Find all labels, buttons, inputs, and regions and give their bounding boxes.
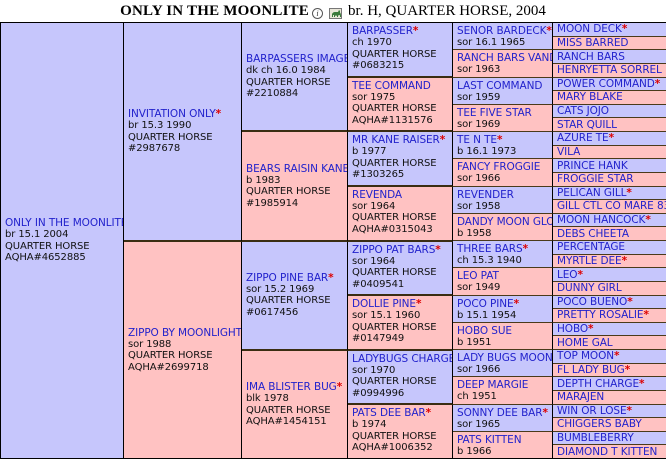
info-icon[interactable]: i: [312, 8, 323, 19]
horse-line3: AQHA#0315043: [352, 224, 449, 236]
pedigree-cell: DUNNY GIRL: [553, 282, 666, 296]
pedigree-cell: GILL CTL CO MARE 83: [553, 200, 666, 214]
superior-star-icon: *: [413, 25, 418, 37]
pedigree-cell: DEEP MARGIEch 1951: [453, 377, 553, 404]
horse-name-link[interactable]: MOON HANCOCK*: [557, 214, 663, 226]
horse-name-link[interactable]: BARPASSER*: [352, 25, 449, 37]
horse-name-link[interactable]: MARAJEN: [557, 391, 663, 403]
horse-line1: ch 15.3 1940: [457, 255, 549, 267]
horse-name-link[interactable]: HOME GAL: [557, 337, 663, 349]
horse-name-link[interactable]: LADYBUGS CHARGE*: [352, 353, 449, 365]
pedigree-cell: TE N TE*b 16.1 1973: [453, 132, 553, 159]
pedigree-cell: DOLLIE PINE*sor 15.1 1960QUARTER HORSE#0…: [348, 296, 453, 351]
superior-star-icon: *: [337, 381, 342, 393]
horse-line3: #0617456: [246, 307, 344, 319]
superior-star-icon: *: [416, 298, 421, 310]
horse-line1: sor 1966: [457, 364, 549, 376]
pedigree-cell: THREE BARS*ch 15.3 1940: [453, 241, 553, 268]
pedigree-cell: CATS JOJO: [553, 105, 666, 119]
horse-name-link[interactable]: TE N TE*: [457, 134, 549, 146]
pedigree-cell: LAST COMMANDsor 1959: [453, 78, 553, 105]
horse-name-link[interactable]: FROGGIE STAR: [557, 173, 663, 185]
horse-name-link[interactable]: REVENDER: [457, 189, 549, 201]
pedigree-cell: SONNY DEE BAR*sor 1965: [453, 405, 553, 432]
horse-line2: QUARTER HORSE: [128, 350, 238, 362]
pedigree-cell: AZURE TE*: [553, 132, 666, 146]
superior-star-icon: *: [626, 187, 631, 199]
horse-line3: AQHA#2699718: [128, 362, 238, 374]
horse-line2: QUARTER HORSE: [352, 212, 449, 224]
horse-name-link[interactable]: INVITATION ONLY*: [128, 108, 238, 120]
pedigree-cell: RANCH BARS: [553, 50, 666, 64]
horse-line3: AQHA#1131576: [352, 115, 449, 127]
pedigree-cell: FL LADY BUG*: [553, 364, 666, 378]
pedigree-cell: FANCY FROGGIEsor 1966: [453, 159, 553, 186]
horse-line3: AQHA#1454151: [246, 416, 344, 428]
pedigree-cell: HOBO*: [553, 323, 666, 337]
horse-name-link[interactable]: PELICAN GILL*: [557, 187, 663, 199]
horse-line1: sor 1970: [352, 365, 449, 377]
superior-star-icon: *: [440, 134, 445, 146]
horse-line2: QUARTER HORSE: [352, 267, 449, 279]
horse-line2: QUARTER HORSE: [352, 103, 449, 115]
pedigree-cell: REVENDAsor 1964QUARTER HORSEAQHA#0315043: [348, 187, 453, 242]
superior-star-icon: *: [627, 405, 632, 417]
horse-line2: QUARTER HORSE: [246, 405, 344, 417]
superior-star-icon: *: [497, 134, 502, 146]
horse-name-link[interactable]: PERCENTAGE: [557, 241, 663, 253]
horse-photo-icon[interactable]: [329, 8, 342, 19]
superior-star-icon: *: [542, 407, 547, 419]
superior-star-icon: *: [426, 407, 431, 419]
horse-name-link[interactable]: TEE FIVE STAR: [457, 107, 549, 119]
horse-line1: br 15.3 1990: [128, 120, 238, 132]
horse-name-link[interactable]: PRETTY ROSALIE*: [557, 309, 663, 321]
horse-name-link[interactable]: AZURE TE*: [557, 132, 663, 144]
horse-name-link[interactable]: TEE COMMAND: [352, 80, 449, 92]
pedigree-page: ONLY IN THE MOONLITE i br. H, QUARTER HO…: [0, 0, 666, 459]
horse-line1: sor 16.1 1965: [457, 37, 549, 49]
horse-name-link[interactable]: PATS KITTEN: [457, 434, 549, 446]
horse-name-link[interactable]: POCO BUENO*: [557, 296, 663, 308]
pedigree-cell: REVENDERsor 1958: [453, 187, 553, 214]
pedigree-cell: INVITATION ONLY*br 15.3 1990QUARTER HORS…: [124, 23, 242, 242]
horse-name-link[interactable]: SONNY DEE BAR*: [457, 407, 549, 419]
pedigree-cell: LADYBUGS CHARGE*sor 1970QUARTER HORSE#09…: [348, 351, 453, 406]
horse-name-link[interactable]: VILA: [557, 146, 663, 158]
horse-line1: br 15.1 2004: [5, 229, 120, 241]
pedigree-cell: STAR QUILL: [553, 118, 666, 132]
horse-line1: b 1977: [352, 146, 449, 158]
horse-line1: b 1966: [457, 446, 549, 458]
horse-line3: #2210884: [246, 88, 344, 100]
horse-line1: sor 1959: [457, 92, 549, 104]
superior-star-icon: *: [523, 243, 528, 255]
pedigree-cell: MARY BLAKE: [553, 91, 666, 105]
horse-name-link[interactable]: ZIPPO BY MOONLIGHT*: [128, 327, 238, 339]
horse-line1: b 1951: [457, 337, 549, 349]
pedigree-cell: DANDY MOON GLOWb 1958: [453, 214, 553, 241]
horse-name-link[interactable]: DOLLIE PINE*: [352, 298, 449, 310]
page-header: ONLY IN THE MOONLITE i br. H, QUARTER HO…: [0, 0, 666, 22]
pedigree-cell: PELICAN GILL*: [553, 187, 666, 201]
horse-line1: sor 15.2 1969: [246, 284, 344, 296]
horse-line1: sor 1949: [457, 282, 549, 294]
pedigree-cell: MOON HANCOCK*: [553, 214, 666, 228]
horse-name-link[interactable]: LADY BUGS MOON*: [457, 352, 549, 364]
superior-star-icon: *: [645, 214, 650, 226]
horse-line2: QUARTER HORSE: [352, 431, 449, 443]
superior-star-icon: *: [577, 269, 582, 281]
pedigree-cell: RANCH BARS VANDYsor 1963: [453, 50, 553, 77]
horse-line1: sor 1958: [457, 201, 549, 213]
page-title: ONLY IN THE MOONLITE: [120, 3, 309, 20]
pedigree-cell: DIAMOND T KITTEN: [553, 445, 666, 459]
pedigree-cell: CHIGGERS BABY: [553, 418, 666, 432]
horse-name-link[interactable]: BARPASSERS IMAGE*: [246, 53, 344, 65]
horse-line2: QUARTER HORSE: [246, 186, 344, 198]
pedigree-cell: LEO*: [553, 268, 666, 282]
pedigree-cell: BUMBLEBERRY: [553, 432, 666, 446]
pedigree-cell: LADY BUGS MOON*sor 1966: [453, 350, 553, 377]
superior-star-icon: *: [588, 323, 593, 335]
horse-name-link[interactable]: LEO PAT: [457, 270, 549, 282]
horse-name-link[interactable]: FL LADY BUG*: [557, 364, 663, 376]
superior-star-icon: *: [546, 25, 551, 37]
superior-star-icon: *: [627, 296, 632, 308]
horse-name-link[interactable]: DEPTH CHARGE*: [557, 378, 663, 390]
horse-name-link[interactable]: DEBS CHEETA: [557, 228, 663, 240]
pedigree-cell: PRINCE HANK: [553, 159, 666, 173]
horse-name-link[interactable]: WIN OR LOSE*: [557, 405, 663, 417]
pedigree-cell: TEE COMMANDsor 1975QUARTER HORSEAQHA#113…: [348, 78, 453, 133]
pedigree-cell: BARPASSER*ch 1970QUARTER HORSE#0683215: [348, 23, 453, 78]
generation-6-column: MOON DECK*MISS BARREDRANCH BARSHENRYETTA…: [553, 23, 666, 459]
horse-line1: dk ch 16.0 1984: [246, 65, 344, 77]
horse-line1: b 1974: [352, 419, 449, 431]
pedigree-cell: VILA: [553, 146, 666, 160]
horse-name-link[interactable]: THREE BARS*: [457, 243, 549, 255]
horse-name-link[interactable]: STAR QUILL: [557, 119, 663, 131]
horse-name-link[interactable]: PATS DEE BAR*: [352, 407, 449, 419]
horse-name-link[interactable]: MISS BARRED: [557, 37, 663, 49]
horse-name-link[interactable]: CATS JOJO: [557, 105, 663, 117]
horse-name-link[interactable]: ZIPPO PAT BARS*: [352, 244, 449, 256]
pedigree-cell: SENOR BARDECK*sor 16.1 1965: [453, 23, 553, 50]
page-subtitle: br. H, QUARTER HORSE, 2004: [348, 3, 546, 20]
pedigree-cell: POCO PINE*b 15.1 1954: [453, 296, 553, 323]
horse-name-link[interactable]: MARY BLAKE: [557, 91, 663, 103]
superior-star-icon: *: [639, 378, 644, 390]
pedigree-cell: POCO BUENO*: [553, 296, 666, 310]
pedigree-cell: TEE FIVE STARsor 1969: [453, 105, 553, 132]
horse-line2: QUARTER HORSE: [352, 158, 449, 170]
superior-star-icon: *: [622, 255, 627, 267]
horse-name-link[interactable]: FANCY FROGGIE: [457, 161, 549, 173]
horse-line1: sor 1969: [457, 119, 549, 131]
horse-name-link[interactable]: MOON DECK*: [557, 23, 663, 35]
pedigree-cell: HENRYETTA SORREL: [553, 64, 666, 78]
horse-name-link[interactable]: MYRTLE DEE*: [557, 255, 663, 267]
pedigree-cell: BEARS RAISIN KANE*b 1983QUARTER HORSE#19…: [242, 132, 348, 241]
horse-line2: QUARTER HORSE: [352, 49, 449, 61]
pedigree-cell: PERCENTAGE: [553, 241, 666, 255]
horse-name-link[interactable]: GILL CTL CO MARE 83: [557, 200, 663, 212]
superior-star-icon: *: [216, 108, 221, 120]
superior-star-icon: *: [655, 78, 660, 90]
generation-1-column: ONLY IN THE MOONLITE*br 15.1 2004QUARTER…: [1, 23, 124, 459]
horse-line3: #0147949: [352, 333, 449, 345]
horse-line2: QUARTER HORSE: [5, 241, 120, 253]
pedigree-cell: MOON DECK*: [553, 23, 666, 37]
pedigree-cell: BARPASSERS IMAGE*dk ch 16.0 1984QUARTER …: [242, 23, 348, 132]
pedigree-cell: WIN OR LOSE*: [553, 405, 666, 419]
horse-line2: QUARTER HORSE: [352, 376, 449, 388]
horse-name-link[interactable]: LAST COMMAND: [457, 80, 549, 92]
horse-name-link[interactable]: ONLY IN THE MOONLITE*: [5, 217, 120, 229]
generation-2-column: INVITATION ONLY*br 15.3 1990QUARTER HORS…: [124, 23, 242, 459]
horse-line3: #2987678: [128, 143, 238, 155]
pedigree-table: ONLY IN THE MOONLITE*br 15.1 2004QUARTER…: [0, 22, 666, 459]
pedigree-cell: PATS KITTENb 1966: [453, 432, 553, 459]
superior-star-icon: *: [614, 350, 619, 362]
horse-line1: sor 15.1 1960: [352, 310, 449, 322]
horse-name-link[interactable]: POCO PINE*: [457, 298, 549, 310]
horse-line1: blk 1978: [246, 393, 344, 405]
horse-line3: #0409541: [352, 279, 449, 291]
horse-line1: ch 1951: [457, 391, 549, 403]
superior-star-icon: *: [328, 272, 333, 284]
pedigree-cell: PATS DEE BAR*b 1974QUARTER HORSEAQHA#100…: [348, 405, 453, 459]
pedigree-cell: FROGGIE STAR: [553, 173, 666, 187]
pedigree-cell: MYRTLE DEE*: [553, 255, 666, 269]
horse-line1: ch 1970: [352, 37, 449, 49]
generation-3-column: BARPASSERS IMAGE*dk ch 16.0 1984QUARTER …: [242, 23, 348, 459]
horse-line1: sor 1965: [457, 419, 549, 431]
horse-line1: sor 1964: [352, 201, 449, 213]
horse-line2: QUARTER HORSE: [128, 132, 238, 144]
pedigree-cell: ZIPPO PAT BARS*sor 1964QUARTER HORSE#040…: [348, 242, 453, 297]
pedigree-cell: TOP MOON*: [553, 350, 666, 364]
horse-line3: #1303265: [352, 169, 449, 181]
pedigree-cell: HOME GAL: [553, 336, 666, 350]
horse-name-link[interactable]: HOBO*: [557, 323, 663, 335]
horse-line2: QUARTER HORSE: [352, 322, 449, 334]
pedigree-cell: DEBS CHEETA: [553, 227, 666, 241]
generation-5-column: SENOR BARDECK*sor 16.1 1965RANCH BARS VA…: [453, 23, 553, 459]
horse-name-link[interactable]: DIAMOND T KITTEN: [557, 446, 663, 458]
horse-name-link[interactable]: SENOR BARDECK*: [457, 25, 549, 37]
horse-name-link[interactable]: POWER COMMAND*: [557, 78, 663, 90]
pedigree-cell: DEPTH CHARGE*: [553, 377, 666, 391]
horse-name-link[interactable]: RANCH BARS: [557, 51, 663, 63]
horse-name-link[interactable]: DEEP MARGIE: [457, 379, 549, 391]
horse-line1: b 15.1 1954: [457, 310, 549, 322]
horse-line1: b 1983: [246, 175, 344, 187]
horse-name-link[interactable]: BUMBLEBERRY: [557, 432, 663, 444]
horse-line3: #0994996: [352, 388, 449, 400]
pedigree-cell: MISS BARRED: [553, 37, 666, 51]
horse-name-link[interactable]: ZIPPO PINE BAR*: [246, 272, 344, 284]
horse-name-link[interactable]: MR KANE RAISER*: [352, 134, 449, 146]
superior-star-icon: *: [643, 309, 648, 321]
superior-star-icon: *: [625, 364, 630, 376]
horse-line1: b 16.1 1973: [457, 146, 549, 158]
horse-line1: sor 1988: [128, 339, 238, 351]
horse-line1: b 1958: [457, 228, 549, 240]
superior-star-icon: *: [622, 23, 627, 35]
horse-line1: sor 1964: [352, 256, 449, 268]
pedigree-cell: LEO PATsor 1949: [453, 268, 553, 295]
pedigree-cell: POWER COMMAND*: [553, 78, 666, 92]
horse-name-link[interactable]: RANCH BARS VANDY: [457, 52, 549, 64]
pedigree-cell: PRETTY ROSALIE*: [553, 309, 666, 323]
horse-name-link[interactable]: DUNNY GIRL: [557, 282, 663, 294]
horse-name-link[interactable]: BEARS RAISIN KANE*: [246, 163, 344, 175]
horse-line1: sor 1975: [352, 92, 449, 104]
pedigree-cell: MARAJEN: [553, 391, 666, 405]
pedigree-cell: IMA BLISTER BUG*blk 1978QUARTER HORSEAQH…: [242, 351, 348, 459]
horse-line1: sor 1966: [457, 173, 549, 185]
pedigree-cell: MR KANE RAISER*b 1977QUARTER HORSE#13032…: [348, 132, 453, 187]
horse-line3: #0683215: [352, 60, 449, 72]
horse-name-link[interactable]: PRINCE HANK: [557, 160, 663, 172]
horse-name-link[interactable]: DANDY MOON GLOW: [457, 216, 549, 228]
horse-name-link[interactable]: LEO*: [557, 269, 663, 281]
pedigree-cell: HOBO SUEb 1951: [453, 323, 553, 350]
superior-star-icon: *: [435, 244, 440, 256]
generation-4-column: BARPASSER*ch 1970QUARTER HORSE#0683215TE…: [348, 23, 453, 459]
horse-line2: QUARTER HORSE: [246, 77, 344, 89]
pedigree-cell: ZIPPO BY MOONLIGHT*sor 1988QUARTER HORSE…: [124, 242, 242, 459]
horse-name-link[interactable]: REVENDA: [352, 189, 449, 201]
horse-line3: AQHA#4652885: [5, 252, 120, 264]
pedigree-cell: ONLY IN THE MOONLITE*br 15.1 2004QUARTER…: [1, 23, 124, 459]
horse-line3: #1985914: [246, 198, 344, 210]
horse-name-link[interactable]: HENRYETTA SORREL: [557, 64, 663, 76]
horse-name-link[interactable]: TOP MOON*: [557, 350, 663, 362]
horse-line2: QUARTER HORSE: [246, 295, 344, 307]
horse-line3: AQHA#1006352: [352, 442, 449, 454]
superior-star-icon: *: [514, 298, 519, 310]
horse-line1: sor 1963: [457, 64, 549, 76]
horse-name-link[interactable]: CHIGGERS BABY: [557, 418, 663, 430]
horse-name-link[interactable]: HOBO SUE: [457, 325, 549, 337]
superior-star-icon: *: [609, 132, 614, 144]
pedigree-cell: ZIPPO PINE BAR*sor 15.2 1969QUARTER HORS…: [242, 242, 348, 351]
horse-name-link[interactable]: IMA BLISTER BUG*: [246, 381, 344, 393]
